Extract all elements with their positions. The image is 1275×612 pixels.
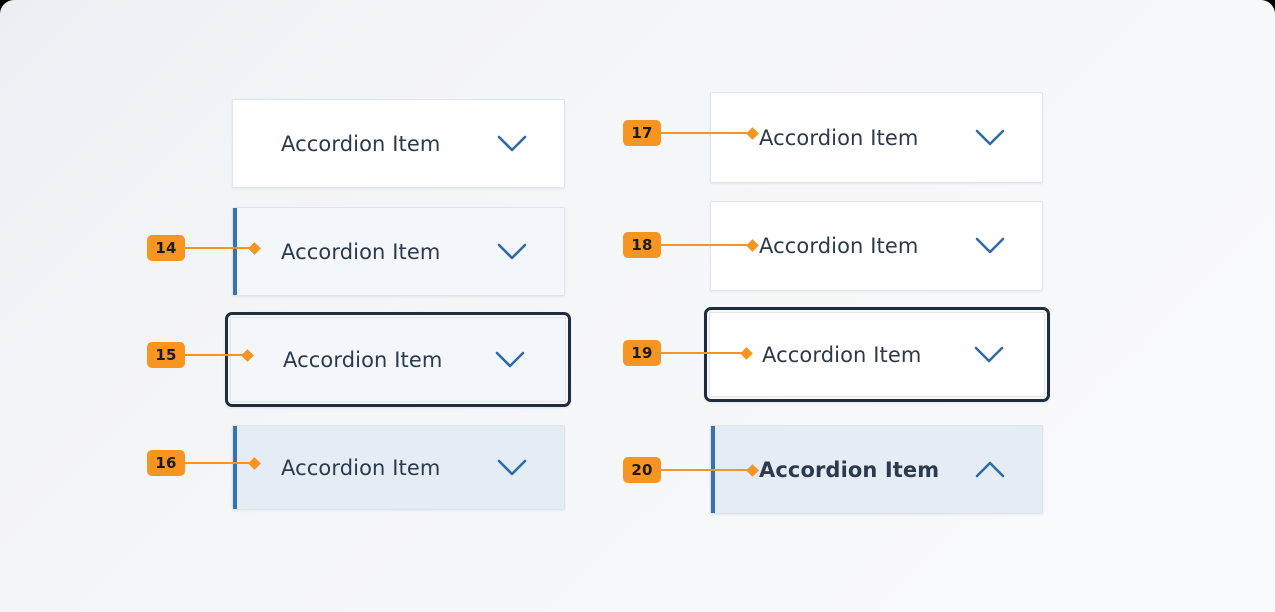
accordion-item-selected[interactable]: Accordion Item xyxy=(232,425,565,510)
accordion-surface: Accordion Item xyxy=(711,202,1042,290)
callout-badge-number: 17 xyxy=(623,120,661,146)
chevron-down-icon[interactable] xyxy=(495,235,529,269)
accordion-surface: Accordion Item xyxy=(711,93,1042,182)
chevron-down-icon[interactable] xyxy=(495,127,529,161)
accordion-item-selected-expanded[interactable]: Accordion Item xyxy=(710,425,1043,514)
callout-badge-number: 19 xyxy=(623,340,661,366)
accordion-surface: Accordion Item xyxy=(233,208,564,295)
accordion-label: Accordion Item xyxy=(762,343,921,367)
accordion-label: Accordion Item xyxy=(281,132,440,156)
accordion-accent-bar xyxy=(233,426,237,509)
accordion-label: Accordion Item xyxy=(759,234,918,258)
accordion-surface: Accordion Item xyxy=(233,426,564,509)
accordion-label: Accordion Item xyxy=(281,456,440,480)
chevron-down-icon[interactable] xyxy=(973,121,1007,155)
accordion-surface: Accordion Item xyxy=(230,317,566,402)
accordion-item-default[interactable]: Accordion Item xyxy=(232,99,565,188)
accordion-surface: Accordion Item xyxy=(709,312,1045,397)
chevron-up-icon[interactable] xyxy=(973,453,1007,487)
callout-badge-number: 14 xyxy=(147,235,185,261)
accordion-accent-bar xyxy=(233,208,237,295)
accordion-surface: Accordion Item xyxy=(711,426,1042,513)
accordion-item-default[interactable]: Accordion Item xyxy=(710,201,1043,291)
accordion-label: Accordion Item xyxy=(281,240,440,264)
callout-badge-number: 18 xyxy=(623,232,661,258)
chevron-down-icon[interactable] xyxy=(495,451,529,485)
accordion-accent-bar xyxy=(711,426,715,513)
accordion-item-default[interactable]: Accordion Item xyxy=(710,92,1043,183)
chevron-down-icon[interactable] xyxy=(493,343,527,377)
accordion-states-canvas: Accordion Item Accordion Item Accordion … xyxy=(0,0,1275,612)
accordion-item-focus[interactable]: Accordion Item xyxy=(225,312,571,407)
accordion-item-focus[interactable]: Accordion Item xyxy=(704,307,1050,402)
callout-badge-number: 15 xyxy=(147,342,185,368)
accordion-label: Accordion Item xyxy=(283,348,442,372)
chevron-down-icon[interactable] xyxy=(973,229,1007,263)
accordion-label: Accordion Item xyxy=(759,126,918,150)
chevron-down-icon[interactable] xyxy=(972,338,1006,372)
accordion-label: Accordion Item xyxy=(759,458,939,482)
callout-badge-number: 20 xyxy=(623,457,661,483)
accordion-item-hover[interactable]: Accordion Item xyxy=(232,207,565,296)
callout-badge-number: 16 xyxy=(147,450,185,476)
accordion-surface: Accordion Item xyxy=(233,100,564,187)
